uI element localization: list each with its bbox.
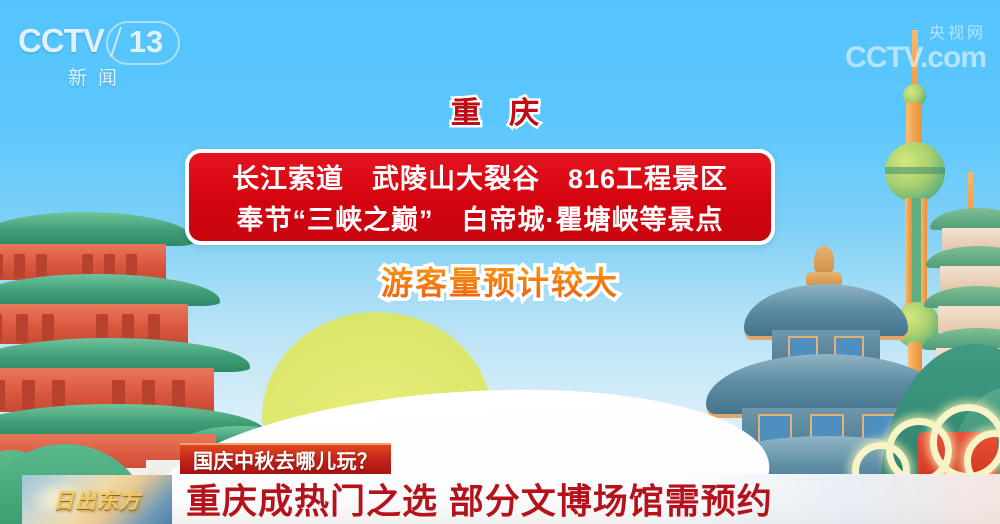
broadcast-screenshot: CCTV 13 新闻 央视网 CCTV.com 重 庆 重 庆 长江索道 武陵山… xyxy=(0,0,1000,524)
program-logo-text: 日出东方 xyxy=(22,485,172,515)
headline-bar: 重庆成热门之选 部分文博场馆需预约 xyxy=(172,474,1000,524)
attractions-red-panel: 长江索道 武陵山大裂谷 816工程景区 奉节“三峡之巅” 白帝城·瞿塘峡等景点 xyxy=(185,149,775,245)
cctv-logo-text: CCTV xyxy=(18,22,104,59)
program-logo: 日出东方 xyxy=(22,475,172,524)
kicker-text: 国庆中秋去哪儿玩？ xyxy=(193,445,378,474)
logo-ring-icon xyxy=(106,21,180,65)
city-title: 重 庆 xyxy=(0,88,1000,132)
attractions-line-2: 奉节“三峡之巅” 白帝城·瞿塘峡等景点 xyxy=(237,198,724,237)
attractions-line-1: 长江索道 武陵山大裂谷 816工程景区 xyxy=(232,157,728,196)
cctv-channel-subtitle: 新闻 xyxy=(18,63,178,90)
cctv13-channel-logo: CCTV 13 新闻 xyxy=(18,24,178,86)
headline-text: 重庆成热门之选 部分文博场馆需预约 xyxy=(186,474,773,524)
tourist-note: 游客量预计较大 xyxy=(0,258,1000,304)
watermark-en-text: CCTV.com xyxy=(845,43,986,73)
cctv-web-watermark: 央视网 CCTV.com xyxy=(845,26,986,73)
watermark-cn-text: 央视网 xyxy=(845,26,986,42)
kicker-banner: 国庆中秋去哪儿玩？ xyxy=(180,443,391,474)
